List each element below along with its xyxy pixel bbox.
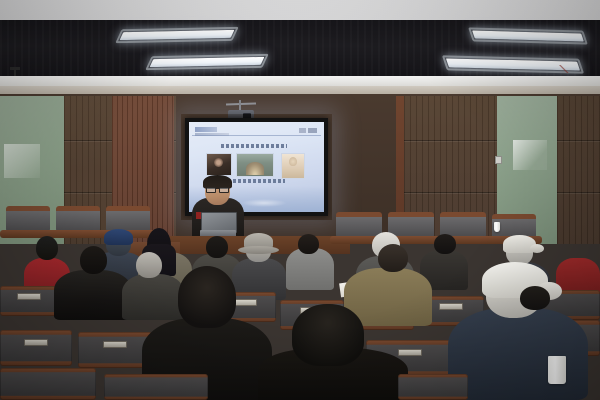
slide-text-top (221, 144, 287, 148)
glass-reflection (513, 140, 547, 170)
ceiling-light-3 (472, 30, 584, 41)
slide-image-landscape (236, 153, 274, 177)
slide-header (192, 126, 321, 139)
ceiling-light-1 (120, 30, 235, 40)
slide-header-item-1 (308, 128, 317, 133)
seat-number-plate (24, 339, 48, 346)
ceiling-light-2 (150, 57, 265, 67)
seat[interactable] (104, 374, 208, 400)
paper-cup-1[interactable] (494, 222, 500, 232)
seat[interactable] (78, 332, 152, 368)
seat-number-plate (103, 341, 127, 348)
slide-text-bottom (223, 179, 285, 183)
presenter-glasses-icon (206, 187, 229, 191)
seat-empty[interactable] (336, 212, 382, 238)
slide-image-buddha (281, 153, 305, 179)
seat[interactable] (0, 286, 58, 316)
slide-header-item-2 (299, 128, 306, 133)
seat-number-plate (398, 349, 422, 356)
ceiling-red-wire (556, 65, 572, 73)
seat-empty[interactable] (6, 206, 50, 232)
seat[interactable] (0, 368, 96, 400)
seat-empty[interactable] (106, 206, 150, 232)
paper-cup-3[interactable] (548, 356, 566, 384)
seat-number-plate (233, 299, 257, 306)
seat-number-plate (17, 293, 41, 300)
slide-header-rule (192, 135, 321, 136)
seat-row-rail (0, 230, 160, 238)
seat[interactable] (398, 374, 468, 400)
slide-image-portrait (206, 153, 232, 176)
door-handle[interactable] (495, 156, 502, 164)
seat-empty[interactable] (56, 206, 100, 232)
slide-logo (195, 127, 217, 132)
ceiling-soffit (0, 0, 600, 22)
seat-number-plate (439, 303, 463, 310)
seat[interactable] (0, 330, 72, 366)
wall-wood-panel-far-right (557, 96, 600, 244)
lecture-hall-photo: Lecture hall presentation (0, 0, 600, 400)
